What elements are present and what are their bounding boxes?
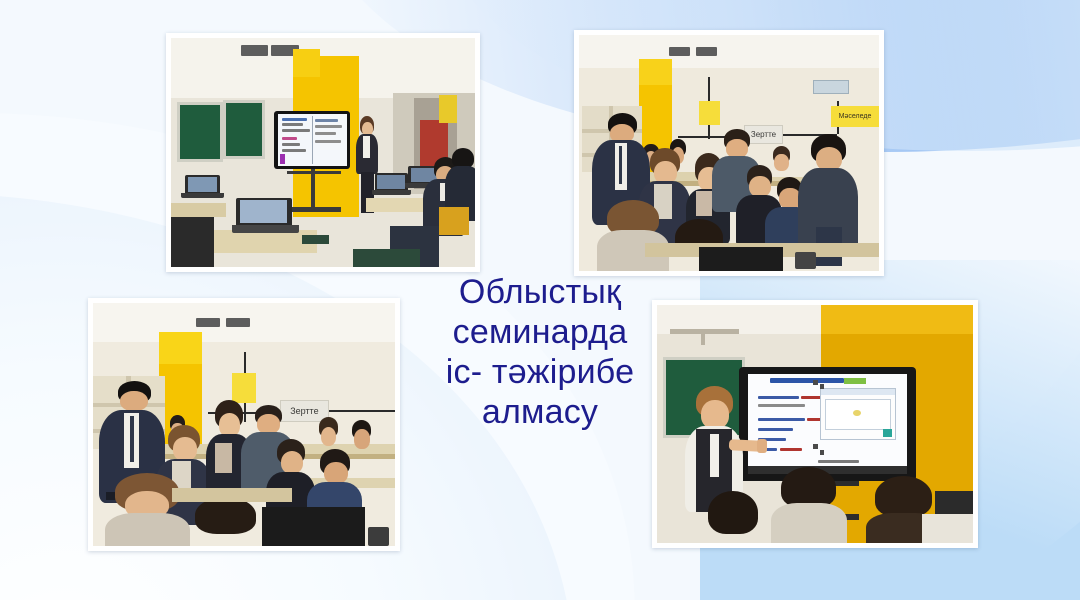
caption-line-2: семинарда xyxy=(408,312,672,352)
photo-classroom-presenter xyxy=(166,33,480,272)
caption-line-3: іс- тәжірибе xyxy=(408,352,672,392)
caption-line-4: алмасу xyxy=(408,392,672,432)
slide-canvas: Зертте Мәселеде xyxy=(0,0,1080,600)
photo-teacher-at-display-image xyxy=(657,305,973,543)
photo-teacher-at-display xyxy=(652,300,978,548)
photo-classroom-presenter-image xyxy=(171,38,475,267)
caption-line-1: Облыстық xyxy=(408,272,672,312)
photo-group-discussion-bottom-image: Зертте xyxy=(93,303,395,546)
slide-caption: Облыстық семинарда іс- тәжірибе алмасу xyxy=(408,272,672,432)
photo-group-discussion-top-image: Зертте Мәселеде xyxy=(579,35,879,271)
photo-group-discussion-top: Зертте Мәселеде xyxy=(574,30,884,276)
photo-group-discussion-bottom: Зертте xyxy=(88,298,400,551)
screen-slide-title xyxy=(770,378,843,383)
wall-card-maselede: Мәселеде xyxy=(831,106,879,127)
